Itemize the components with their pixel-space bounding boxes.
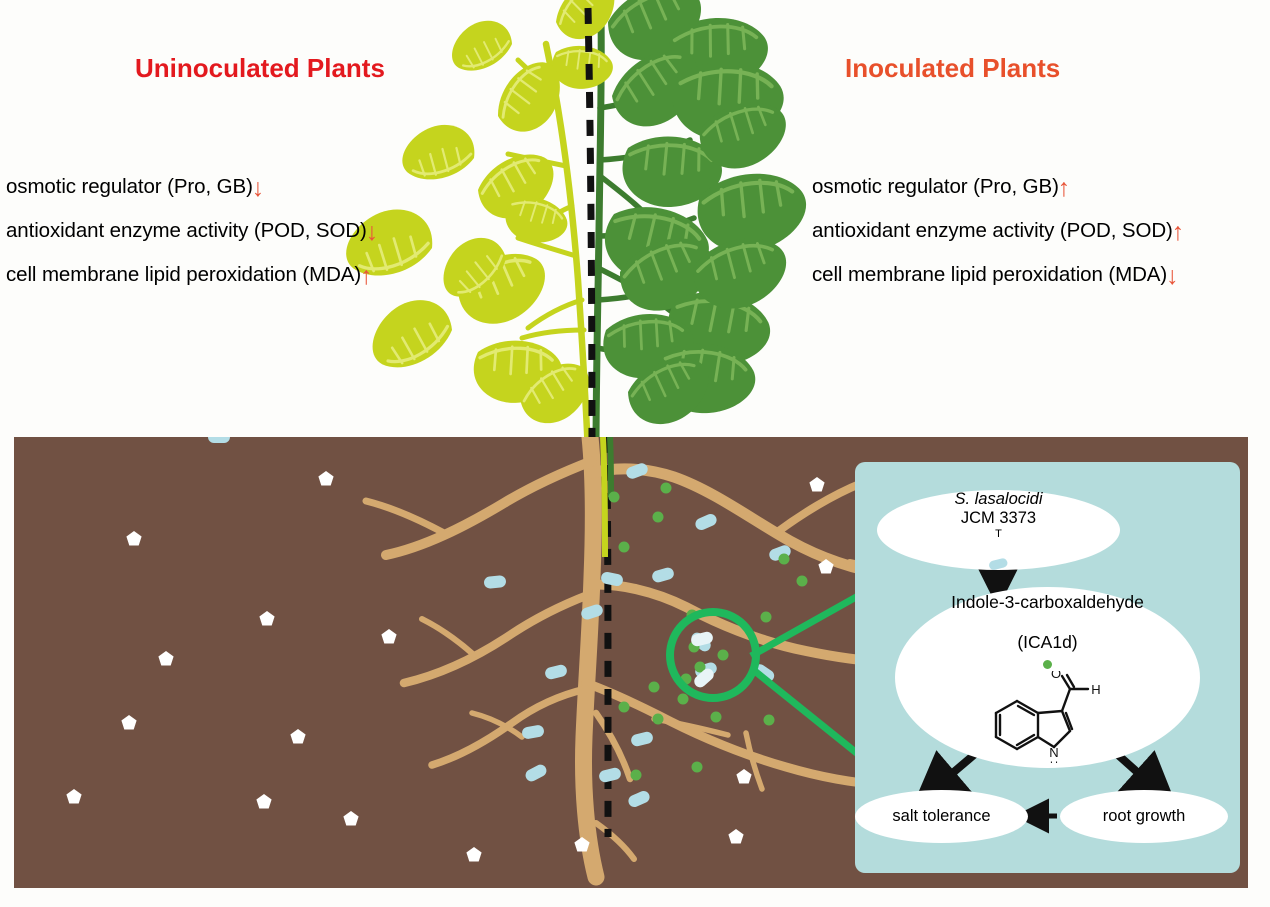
structure-nitrogen-label: N xyxy=(1049,745,1058,760)
compound-abbrev: (ICA1d) xyxy=(1017,632,1077,653)
effect-left-osmotic-regulator: osmotic regulator (Pro, GB)↓ xyxy=(6,175,264,199)
arrow-compound-to-salt-tolerance xyxy=(935,754,975,788)
strain-label: S. lasalocidi JCM 3373T xyxy=(954,490,1042,549)
structure-oxygen-label: O xyxy=(1050,671,1060,681)
effect-right-antioxidant-enzyme-text: antioxidant enzyme activity (POD, SOD) xyxy=(812,219,1173,242)
strain-code: JCM 3373 xyxy=(954,509,1042,528)
strain-name-italic: S. lasalocidi xyxy=(954,490,1042,509)
effect-right-osmotic-regulator-text: osmotic regulator (Pro, GB) xyxy=(812,175,1059,198)
mechanism-inset-panel: S. lasalocidi JCM 3373T Indole-3-carboxa… xyxy=(855,462,1240,873)
effect-right-lipid-peroxidation-text: cell membrane lipid peroxidation (MDA) xyxy=(812,263,1167,286)
effect-right-antioxidant-enzyme: antioxidant enzyme activity (POD, SOD)↑ xyxy=(812,219,1184,243)
indole-3-carboxaldehyde-structure: O H N H xyxy=(984,671,1112,763)
outcome-root-growth-label: root growth xyxy=(1103,807,1186,826)
plant-uninoculated xyxy=(342,0,628,455)
effect-left-osmotic-regulator-text: osmotic regulator (Pro, GB) xyxy=(6,175,253,198)
figure-root: Uninoculated Plants Inoculated Plants os… xyxy=(0,0,1270,907)
title-uninoculated: Uninoculated Plants xyxy=(135,53,385,84)
effect-left-lipid-peroxidation-text: cell membrane lipid peroxidation (MDA) xyxy=(6,263,361,286)
outcome-root-growth-ellipse: root growth xyxy=(1060,790,1228,843)
arrow-compound-to-root-growth xyxy=(1117,754,1155,788)
effect-right-osmotic-regulator: osmotic regulator (Pro, GB)↑ xyxy=(812,175,1070,199)
compound-name: Indole-3-carboxaldehyde xyxy=(951,592,1144,613)
outcome-salt-tolerance-label: salt tolerance xyxy=(892,807,990,826)
structure-nh-hydrogen-label: H xyxy=(1050,760,1058,763)
divider-dashed-line xyxy=(588,8,592,460)
outcome-salt-tolerance-ellipse: salt tolerance xyxy=(855,790,1028,843)
effect-right-lipid-peroxidation: cell membrane lipid peroxidation (MDA)↓ xyxy=(812,263,1179,287)
plant-inoculated xyxy=(592,0,808,455)
stem-yellow-into-soil xyxy=(603,437,605,557)
green-dot-icon xyxy=(1043,660,1052,669)
effect-left-lipid-peroxidation: cell membrane lipid peroxidation (MDA)↑ xyxy=(6,263,373,287)
strain-ellipse: S. lasalocidi JCM 3373T xyxy=(877,490,1120,570)
title-inoculated: Inoculated Plants xyxy=(845,53,1060,84)
effect-left-antioxidant-enzyme-text: antioxidant enzyme activity (POD, SOD) xyxy=(6,219,367,242)
strain-type-superscript: T xyxy=(995,528,1002,540)
effect-left-antioxidant-enzyme: antioxidant enzyme activity (POD, SOD)↓ xyxy=(6,219,378,243)
stem-green-into-soil xyxy=(610,437,611,497)
bacterium-rod-icon xyxy=(986,557,1012,571)
structure-aldehyde-hydrogen-label: H xyxy=(1091,682,1100,697)
compound-ellipse: Indole-3-carboxaldehyde (ICA1d) xyxy=(895,587,1200,768)
